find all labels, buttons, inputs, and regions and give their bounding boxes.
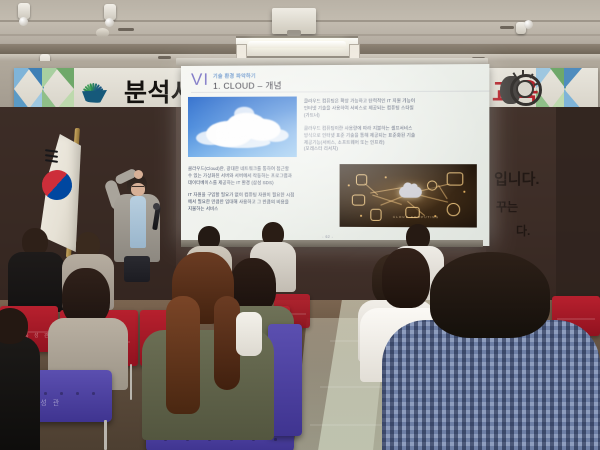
slide-body-4: IT 자원을 구입할 필요가 없이 컴퓨팅 자원이 필요한 시점 에서 필요한 … — [188, 192, 331, 213]
cloud-icon — [399, 186, 422, 197]
fluorescent-tube — [248, 41, 346, 48]
microphone-head — [153, 203, 160, 210]
projection-screen: VI 기술 환경 파악하기 1. CLOUD – 개념 클라우드 컴퓨팅은 확장… — [181, 64, 489, 246]
presentation-slide: VI 기술 환경 파악하기 1. CLOUD – 개념 클라우드 컴퓨팅은 확장… — [181, 64, 489, 246]
chair-leg — [104, 420, 107, 450]
track-light-head — [105, 18, 114, 27]
track-light-head — [19, 17, 28, 26]
net-device-node — [356, 174, 367, 185]
glasses-icon — [132, 186, 144, 190]
slide-body-2: 클라우드 컴퓨팅이란 사용량에 따라 지불하는 셀프서비스 방식으로 인터넷 표… — [304, 125, 477, 153]
banner-mosaic-right — [536, 68, 598, 110]
net-device-node — [427, 180, 437, 190]
net-device-node — [370, 209, 381, 221]
net-device-node — [447, 172, 464, 185]
head — [430, 252, 550, 338]
presenter-hand — [134, 170, 143, 179]
track-light-head — [524, 20, 533, 29]
wall-panel — [556, 107, 600, 307]
collar — [236, 312, 262, 356]
ai-head-icon — [496, 71, 536, 107]
slide-body-3: 클라우드(Cloud)란, 광대한 네트워크를 통하여 접근할 수 있는 가상화… — [188, 166, 331, 187]
net-device-node — [447, 203, 461, 216]
slide-section-number: VI — [191, 71, 209, 88]
cloud-photo — [188, 97, 297, 158]
wall-text-line2: 꾸는 — [496, 198, 518, 215]
screen-bottom-bar — [181, 240, 483, 247]
presenter-legs — [124, 256, 150, 282]
ceiling-vent — [118, 28, 134, 31]
wall-text-line3: 다. — [516, 222, 530, 239]
organization-logo — [76, 74, 112, 104]
net-device-node — [352, 194, 365, 205]
net-caption: CLOUD COMPUTING — [393, 215, 439, 219]
wall-text-line1: 입니다. — [494, 168, 540, 189]
cloud-network-diagram: CLOUD COMPUTING — [340, 164, 477, 227]
presenter-shirt — [130, 196, 146, 248]
banner-mosaic-left — [14, 68, 76, 110]
slide-header: VI 기술 환경 파악하기 1. CLOUD – 개념 — [189, 70, 481, 96]
hair — [166, 296, 200, 414]
lecture-hall-photo: 분석사 교육 입니다. 꾸는 다. VI — [0, 0, 600, 450]
ceiling-vent — [500, 26, 514, 29]
chair-leg — [130, 364, 132, 400]
slide-body-1: 클라우드 컴퓨팅은 확장 가능하고 탄력적인 IT 지원 기능이 인터넷 기술을… — [304, 98, 477, 119]
ceiling-camera-icon — [96, 28, 109, 37]
blue-check-shirt — [382, 320, 600, 450]
ceiling-vent — [158, 56, 171, 59]
slide-page-number: - 62 - — [322, 235, 333, 239]
slide-title: 1. CLOUD – 개념 — [213, 79, 282, 91]
slide-header-rule — [191, 91, 489, 93]
